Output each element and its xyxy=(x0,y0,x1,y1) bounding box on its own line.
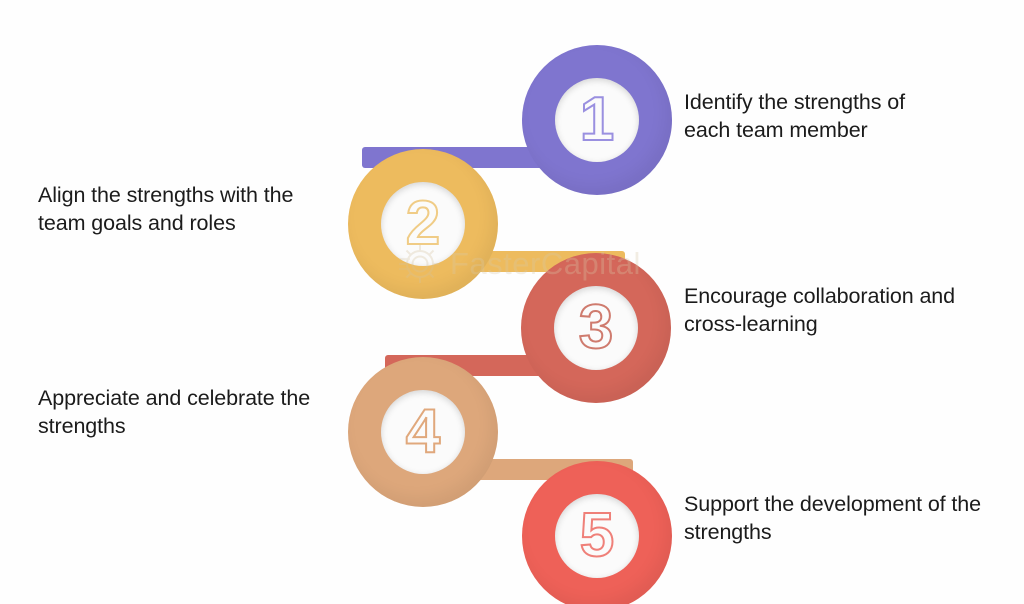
step-number-4: 4 xyxy=(406,401,440,463)
step-inner-5: 5 xyxy=(555,494,639,578)
step-node-4[interactable]: 4 xyxy=(348,357,498,507)
step-node-1[interactable]: 1 xyxy=(522,45,672,195)
infographic-canvas: FasterCapital 1 Identify the strengths o… xyxy=(0,0,1024,604)
step-inner-3: 3 xyxy=(554,286,638,370)
step-node-3[interactable]: 3 xyxy=(521,253,671,403)
step-number-2: 2 xyxy=(406,193,440,255)
step-number-5: 5 xyxy=(580,505,614,567)
step-inner-2: 2 xyxy=(381,182,465,266)
step-number-3: 3 xyxy=(579,297,613,359)
step-label-1: Identify the strengths of each team memb… xyxy=(684,89,956,144)
step-label-5: Support the development of the strengths xyxy=(684,491,984,546)
step-label-3: Encourage collaboration and cross-learni… xyxy=(684,283,964,338)
step-label-4: Appreciate and celebrate the strengths xyxy=(38,385,328,440)
step-inner-1: 1 xyxy=(555,78,639,162)
step-node-5[interactable]: 5 xyxy=(522,461,672,604)
step-label-2: Align the strengths with the team goals … xyxy=(38,182,338,237)
step-node-2[interactable]: 2 xyxy=(348,149,498,299)
step-inner-4: 4 xyxy=(381,390,465,474)
step-number-1: 1 xyxy=(580,89,614,151)
